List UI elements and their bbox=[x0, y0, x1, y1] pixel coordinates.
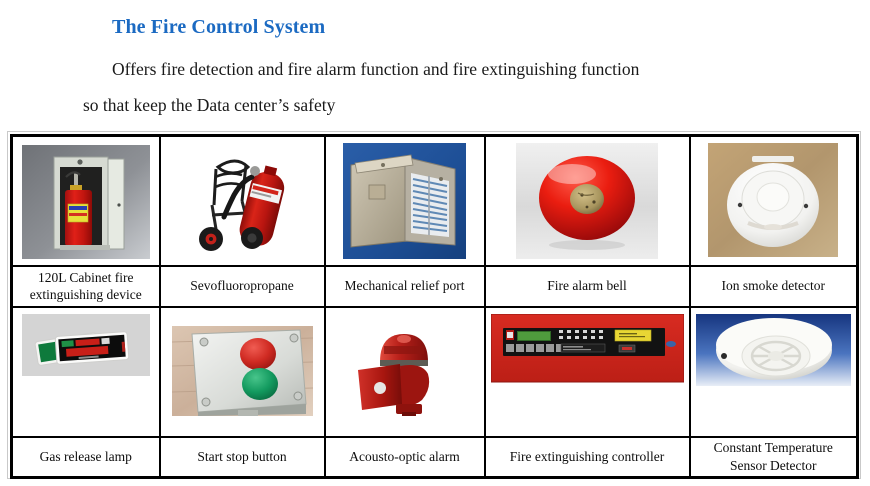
table-cell-label: 120L Cabinet fire extinguishing device bbox=[12, 266, 160, 307]
table-cell-image bbox=[12, 136, 160, 266]
table-row-labels-2: Gas release lamp Start stop button Acous… bbox=[12, 437, 858, 478]
mechanical-relief-port-photo bbox=[326, 137, 484, 265]
equipment-label: Ion smoke detector bbox=[691, 277, 857, 294]
table-cell-image bbox=[485, 307, 690, 437]
equipment-table: 120L Cabinet fire extinguishing device S… bbox=[10, 134, 859, 479]
table-row-images-2 bbox=[12, 307, 858, 437]
equipment-label: Sevofluoropropane bbox=[161, 277, 324, 294]
acousto-optic-alarm-photo bbox=[326, 308, 484, 436]
description-line-1: Offers fire detection and fire alarm fun… bbox=[112, 59, 639, 80]
page-title: The Fire Control System bbox=[112, 16, 325, 39]
constant-temperature-sensor-detector-photo bbox=[691, 308, 857, 436]
table-cell-label: Ion smoke detector bbox=[690, 266, 858, 307]
equipment-label: Fire extinguishing controller bbox=[486, 448, 689, 465]
table-row-labels-1: 120L Cabinet fire extinguishing device S… bbox=[12, 266, 858, 307]
equipment-label: Constant Temperature Sensor Detector bbox=[691, 439, 857, 474]
table-cell-image bbox=[12, 307, 160, 437]
table-cell-image bbox=[160, 307, 325, 437]
description-line-2: so that keep the Data center’s safety bbox=[83, 95, 335, 116]
wheeled-fire-extinguisher-photo bbox=[161, 137, 324, 265]
heading-block: The Fire Control System Offers fire dete… bbox=[0, 0, 870, 128]
table-cell-label: Start stop button bbox=[160, 437, 325, 478]
table-cell-label: Constant Temperature Sensor Detector bbox=[690, 437, 858, 478]
slide-page: The Fire Control System Offers fire dete… bbox=[0, 0, 870, 486]
ion-smoke-detector-photo bbox=[691, 137, 857, 265]
table-cell-image bbox=[690, 307, 858, 437]
table-row-images-1 bbox=[12, 136, 858, 266]
table-cell-image bbox=[160, 136, 325, 266]
table-cell-image bbox=[325, 136, 485, 266]
table-cell-label: Fire alarm bell bbox=[485, 266, 690, 307]
table-cell-image bbox=[690, 136, 858, 266]
fire-alarm-bell-photo bbox=[486, 137, 689, 265]
table-cell-label: Acousto-optic alarm bbox=[325, 437, 485, 478]
gas-release-lamp-photo bbox=[13, 308, 159, 436]
equipment-label: Gas release lamp bbox=[13, 448, 159, 465]
start-stop-button-photo bbox=[161, 308, 324, 436]
table-cell-image bbox=[485, 136, 690, 266]
table-cell-label: Sevofluoropropane bbox=[160, 266, 325, 307]
table-cell-label: Fire extinguishing controller bbox=[485, 437, 690, 478]
equipment-label: Fire alarm bell bbox=[486, 277, 689, 294]
equipment-label: Start stop button bbox=[161, 448, 324, 465]
equipment-label: Mechanical relief port bbox=[326, 277, 484, 294]
cabinet-fire-extinguishing-device-photo bbox=[13, 137, 159, 265]
equipment-label: Acousto-optic alarm bbox=[326, 448, 484, 465]
equipment-label: 120L Cabinet fire extinguishing device bbox=[13, 269, 159, 304]
table-cell-label: Gas release lamp bbox=[12, 437, 160, 478]
table-cell-label: Mechanical relief port bbox=[325, 266, 485, 307]
fire-extinguishing-controller-photo bbox=[486, 308, 689, 436]
table-cell-image bbox=[325, 307, 485, 437]
